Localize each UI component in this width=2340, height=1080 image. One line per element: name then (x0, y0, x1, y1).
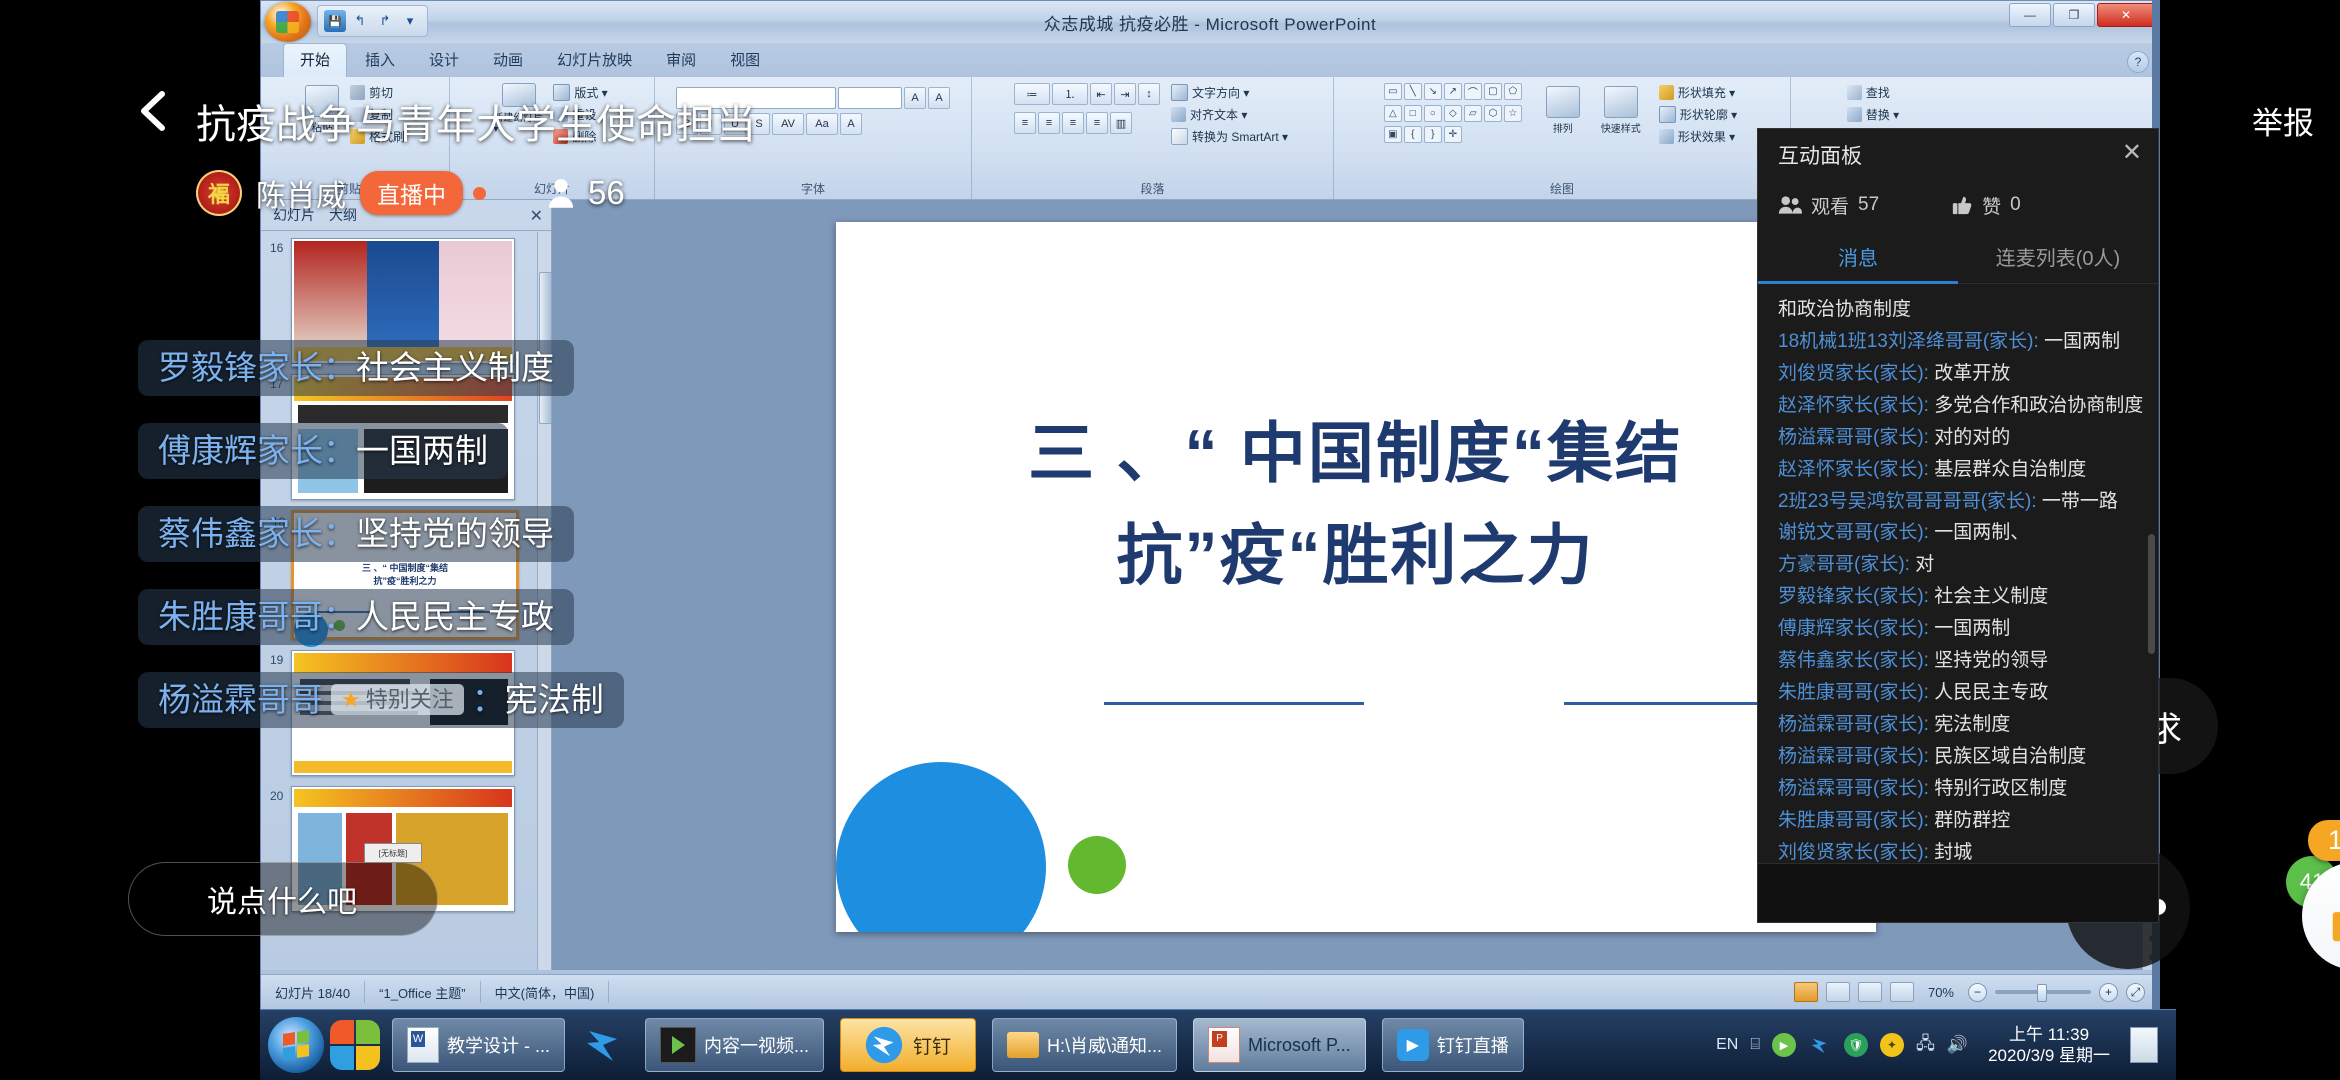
message-item: 杨溢霖哥哥(家长): 民族区域自治制度 (1778, 743, 2144, 771)
restore-icon[interactable]: ❐ (2053, 3, 2095, 27)
find-button[interactable]: 查找 (1844, 83, 1904, 102)
taskbar-item-label: 内容一视频... (704, 1032, 809, 1058)
zoom-level: 70% (1922, 985, 1960, 1000)
viewers-icon (1778, 195, 1802, 215)
thumbs-up-icon (2325, 885, 2340, 947)
group-label-drawing: 绘图 (1334, 180, 1790, 197)
special-follow-tag: ★ 特别关注 (331, 684, 464, 715)
stat-likes: 赞 0 (1951, 192, 2021, 219)
message-scrollbar[interactable] (2148, 534, 2155, 654)
message-item: 谢锐文哥哥(家长): 一国两制、 (1778, 519, 2144, 547)
text-direction-label: 文字方向 ▾ (1192, 84, 1249, 101)
clock-time: 上午 11:39 (1988, 1024, 2110, 1045)
panel-stats: 观看 57 赞 0 (1758, 181, 2158, 229)
taskbar: W 教学设计 - ... 内容一视频... 钉钉 H:\肖威\通知... (260, 1009, 2176, 1080)
view-normal-icon[interactable] (1794, 982, 1818, 1002)
danmaku-text: 人民民主专政 (356, 598, 554, 636)
like-count: 195 (2308, 820, 2340, 861)
ime-icon[interactable]: EN (1716, 1036, 1738, 1054)
tab-mic-list[interactable]: 连麦列表(0人) (1958, 229, 2158, 283)
danmaku-user: 杨溢霖哥哥 (158, 681, 323, 719)
danmaku-sep: ： (323, 349, 356, 387)
zoom-out-icon[interactable]: − (1968, 983, 1987, 1002)
message-text: 人民民主专政 (1934, 682, 2048, 703)
message-text: 多党合作和政治协商制度 (1934, 395, 2143, 416)
clock[interactable]: 上午 11:39 2020/3/9 星期一 (1980, 1024, 2118, 1067)
shape-line-icon[interactable]: ╲ (1404, 83, 1422, 100)
shape-effects-button[interactable]: 形状效果 ▾ (1656, 127, 1740, 146)
taskbar-item-label: Microsoft P... (1248, 1035, 1351, 1056)
screen: 💾 ↰ ↱ ▾ 众志成城 抗疫必胜 - Microsoft PowerPoint… (0, 0, 2340, 1080)
danmaku-user: 傅康辉家长 (158, 432, 323, 470)
message-user: 傅康辉家长(家长): (1778, 618, 1929, 639)
danmaku-sep: ： (323, 432, 356, 470)
message-text: 和政治协商制度 (1778, 299, 1911, 320)
slide-canvas[interactable]: 三 、“ 中国制度“集结 抗”疫“胜利之力 (836, 222, 1876, 932)
arrange-button[interactable]: 排列 (1540, 83, 1586, 135)
message-text: 民族区域自治制度 (1934, 746, 2086, 767)
message-item: 杨溢霖哥哥(家长): 宪法制度 (1778, 711, 2144, 739)
dingtalk-icon (865, 1026, 903, 1064)
message-user: 方豪哥哥(家长): (1778, 554, 1910, 575)
danmaku-sep: ： (472, 681, 505, 719)
thumbnail-number: 20 (270, 789, 283, 803)
view-slideshow-icon[interactable] (1890, 982, 1914, 1002)
viewer-count: 56 (588, 174, 625, 212)
search-icon (1847, 85, 1862, 100)
dingtalk-icon[interactable] (1808, 1033, 1832, 1057)
slide-title-line1: 三 、“ 中国制度“集结 (836, 402, 1876, 504)
replace-icon (1847, 107, 1862, 122)
message-text: 坚持党的领导 (1934, 650, 2048, 671)
powerpoint-icon: P (1208, 1027, 1240, 1063)
panel-input-area[interactable] (1758, 863, 2158, 922)
report-button[interactable]: 举报 (2252, 98, 2314, 143)
shape-effects-label: 形状效果 ▾ (1678, 128, 1735, 145)
message-text: 对的对的 (1934, 427, 2010, 448)
danmaku-text: 一国两制 (356, 432, 488, 470)
close-icon[interactable]: ✕ (2097, 3, 2155, 27)
theme-name: “1_Office 主题” (365, 981, 480, 1003)
text-direction-icon (1171, 84, 1188, 101)
word-icon: W (407, 1027, 439, 1063)
powerpoint-status-bar: 幻灯片 18/40 “1_Office 主题” 中文(简体，中国) 70% − … (261, 974, 2159, 1009)
view-sorter-icon[interactable] (1826, 982, 1850, 1002)
viewer-chip: 56 (546, 174, 625, 212)
message-item: 罗毅锋家长(家长): 社会主义制度 (1778, 583, 2144, 611)
change-case-button[interactable]: Aa (806, 113, 838, 135)
message-item: 刘俊贤家长(家长): 改革开放 (1778, 360, 2144, 388)
message-user: 刘俊贤家长(家长): (1778, 842, 1929, 863)
shape-triangle-icon[interactable]: △ (1384, 105, 1402, 122)
slide-decor-blue-circle (836, 762, 1046, 932)
message-user: 蔡伟鑫家长(家长): (1778, 650, 1929, 671)
message-text: 群防群控 (1934, 810, 2010, 831)
message-user: 18机械1班13刘泽绛哥哥(家长): (1778, 331, 2039, 352)
character-spacing-button[interactable]: AV (772, 113, 804, 135)
danmaku-item: 朱胜康哥哥 ： 人民民主专政 (138, 589, 574, 645)
increase-font-icon[interactable]: A (904, 87, 926, 109)
message-user: 赵泽怀家长(家长): (1778, 395, 1929, 416)
align-left-button[interactable]: ≡ (1014, 112, 1036, 134)
message-item: 朱胜康哥哥(家长): 群防群控 (1778, 807, 2144, 835)
shape-plus-icon[interactable]: ✛ (1444, 126, 1462, 143)
message-text: 基层群众自治制度 (1934, 459, 2086, 480)
taskbar-item-video[interactable]: 内容一视频... (645, 1018, 824, 1072)
shape-rect-icon[interactable]: ▭ (1384, 83, 1402, 100)
close-icon[interactable]: ✕ (2122, 141, 2142, 165)
message-user: 朱胜康哥哥(家长): (1778, 810, 1929, 831)
message-text: 改革开放 (1934, 363, 2010, 384)
minimize-icon[interactable]: — (2009, 3, 2051, 27)
window-controls: — ❐ ✕ (2009, 3, 2155, 27)
view-reading-icon[interactable] (1858, 982, 1882, 1002)
special-follow-label: 特别关注 (366, 687, 454, 712)
justify-button[interactable]: ≡ (1086, 112, 1108, 134)
danmaku-sep: ： (323, 598, 356, 636)
language-indicator[interactable]: 中文(简体，中国) (481, 981, 610, 1003)
taskbar-item-folder[interactable]: H:\肖威\通知... (992, 1018, 1177, 1072)
message-user: 刘俊贤家长(家长): (1778, 363, 1929, 384)
message-text: 宪法制度 (1934, 714, 2010, 735)
video-icon (660, 1027, 696, 1063)
person-icon (546, 177, 576, 209)
message-item: 杨溢霖哥哥(家长): 特别行政区制度 (1778, 775, 2144, 803)
slide-counter: 幻灯片 18/40 (261, 981, 365, 1003)
shape-brace-right-icon[interactable]: } (1424, 126, 1442, 143)
tab-animation[interactable]: 动画 (477, 44, 539, 77)
danmaku-list: 罗毅锋家长 ： 社会主义制度 傅康辉家长 ： 一国两制 蔡伟鑫家长 ： 坚持党的… (138, 340, 624, 728)
shape-pentagon-icon[interactable]: ⬠ (1504, 83, 1522, 100)
smartart-label: 转换为 SmartArt ▾ (1192, 128, 1288, 145)
shape-outline-label: 形状轮廓 ▾ (1680, 106, 1737, 123)
shape-outline-button[interactable]: 形状轮廓 ▾ (1656, 105, 1740, 124)
windows-orb-icon[interactable] (268, 1017, 324, 1073)
message-user: 杨溢霖哥哥(家长): (1778, 714, 1929, 735)
system-tray: EN ⌸ ▶ 🛡 ✦ 🖧 🔊 上午 11:39 2020/3/9 星期一 (1716, 1024, 2168, 1067)
message-item: 和政治协商制度 (1778, 296, 2144, 324)
columns-button[interactable]: ▥ (1110, 112, 1132, 134)
stat-viewers-label: 观看 (1811, 192, 1849, 219)
shape-curve-icon[interactable]: ⌒ (1464, 83, 1482, 100)
message-item: 蔡伟鑫家长(家长): 坚持党的领导 (1778, 647, 2144, 675)
panel-header: 互动面板 ✕ (1758, 129, 2158, 181)
slide-decor-green-circle (1068, 836, 1126, 894)
shape-hexagon-icon[interactable]: ⬡ (1484, 105, 1502, 122)
danmaku-text: 社会主义制度 (356, 349, 554, 387)
thumbs-up-icon (1951, 194, 1973, 216)
folder-icon (1007, 1032, 1039, 1058)
shape-roundrect-icon[interactable]: ▢ (1484, 83, 1502, 100)
browser-icon[interactable] (330, 1020, 380, 1070)
tab-slideshow[interactable]: 幻灯片放映 (541, 44, 648, 77)
zoom-slider[interactable] (1995, 990, 2091, 994)
status-bar-right: 70% − + ⤢ (1794, 982, 2159, 1002)
message-item: 赵泽怀家长(家长): 多党合作和政治协商制度 (1778, 392, 2144, 420)
shape-connector-icon[interactable]: ↗ (1444, 83, 1462, 100)
message-item: 18机械1班13刘泽绛哥哥(家长): 一国两制 (1778, 328, 2144, 356)
clock-date: 2020/3/9 星期一 (1988, 1045, 2110, 1066)
tray-expand-icon[interactable]: ⌸ (1750, 1036, 1760, 1054)
message-user: 2班23号吴鸿钦哥哥哥哥(家长): (1778, 491, 2037, 512)
ribbon-tabs: 开始 插入 设计 动画 幻灯片放映 审阅 视图 ? (261, 43, 2159, 77)
danmaku-text: 坚持党的领导 (356, 515, 554, 553)
danmaku-item: 罗毅锋家长 ： 社会主义制度 (138, 340, 574, 396)
dingtalk-live-icon: ▶ (1397, 1029, 1429, 1061)
align-right-button[interactable]: ≡ (1062, 112, 1084, 134)
quick-styles-icon (1604, 86, 1638, 118)
shape-arrow-icon[interactable]: ↘ (1424, 83, 1442, 100)
align-row: ≡ ≡ ≡ ≡ ▥ (1014, 112, 1160, 134)
arrange-icon (1546, 86, 1580, 118)
volume-icon[interactable]: 🔊 (1947, 1035, 1968, 1055)
dingtalk-icon (583, 1023, 627, 1067)
arrange-label: 排列 (1553, 120, 1573, 135)
shape-diamond-icon[interactable]: ◇ (1444, 105, 1462, 122)
danmaku-user: 蔡伟鑫家长 (158, 515, 323, 553)
taskbar-item-dingtalk-small[interactable] (581, 1021, 629, 1069)
message-item: 2班23号吴鸿钦哥哥哥哥(家长): 一带一路 (1778, 488, 2144, 516)
ribbon-group-paragraph: ≔ ⒈ ⇤ ⇥ ↕ ≡ ≡ ≡ ≡ ▥ (972, 77, 1334, 199)
presenter-row: 福 陈肖威 直播中 56 (196, 170, 625, 216)
shapes-gallery[interactable]: ▭ ╲ ↘ ↗ ⌒ ▢ ⬠ △ □ ○ ◇ ▱ ⬡ ☆ ▣ (1384, 83, 1534, 146)
message-item: 朱胜康哥哥(家长): 人民民主专政 (1778, 679, 2144, 707)
panel-title: 互动面板 (1778, 140, 1862, 170)
font-color-button[interactable]: A (840, 113, 862, 135)
fit-slide-icon[interactable]: ⤢ (2126, 983, 2145, 1002)
tab-view[interactable]: 视图 (714, 44, 776, 77)
align-text-label: 对齐文本 ▾ (1190, 106, 1247, 123)
message-user: 朱胜康哥哥(家长): (1778, 682, 1929, 703)
quick-styles-button[interactable]: 快速样式 (1592, 83, 1650, 135)
danmaku-text: 宪法制 (505, 681, 604, 719)
window-title: 众志成城 抗疫必胜 - Microsoft PowerPoint (261, 10, 2159, 35)
comment-input[interactable]: 说点什么吧 (128, 862, 438, 936)
thumbnail-number: 16 (270, 241, 283, 255)
text-direction-button[interactable]: 文字方向 ▾ (1168, 83, 1291, 102)
shape-square-icon[interactable]: □ (1404, 105, 1422, 122)
find-label: 查找 (1866, 84, 1890, 101)
quick-styles-label: 快速样式 (1601, 120, 1641, 135)
group-label-paragraph: 段落 (972, 180, 1333, 197)
message-text: 对 (1915, 554, 1934, 575)
back-button[interactable] (138, 90, 170, 122)
notes-icon[interactable] (2130, 1027, 2158, 1063)
powerpoint-titlebar: 💾 ↰ ↱ ▾ 众志成城 抗疫必胜 - Microsoft PowerPoint… (261, 1, 2159, 43)
taskbar-item-dingtalk-live[interactable]: ▶ 钉钉直播 (1382, 1018, 1524, 1072)
bullets-button[interactable]: ≔ (1014, 83, 1050, 105)
star-icon: ★ (341, 687, 361, 712)
numbering-button[interactable]: ⒈ (1052, 83, 1088, 105)
shape-star-icon[interactable]: ☆ (1504, 105, 1522, 122)
tab-review[interactable]: 审阅 (650, 44, 712, 77)
live-title: 抗疫战争与青年大学生使命担当 (196, 92, 756, 150)
message-text: 一带一路 (2042, 491, 2118, 512)
tab-insert[interactable]: 插入 (349, 44, 411, 77)
panel-tabs: 消息 连麦列表(0人) (1758, 229, 2158, 284)
ribbon-group-drawing: ▭ ╲ ↘ ↗ ⌒ ▢ ⬠ △ □ ○ ◇ ▱ ⬡ ☆ ▣ (1334, 77, 1791, 199)
decrease-indent-button[interactable]: ⇤ (1090, 83, 1112, 105)
increase-indent-button[interactable]: ⇥ (1114, 83, 1136, 105)
group-label-font: 字体 (655, 180, 971, 197)
font-size-input[interactable] (838, 87, 902, 109)
shape-outline-icon (1659, 106, 1676, 123)
shape-brace-icon[interactable]: { (1404, 126, 1422, 143)
danmaku-item: 杨溢霖哥哥 ★ 特别关注 ： 宪法制 (138, 672, 624, 728)
decrease-font-icon[interactable]: A (928, 87, 950, 109)
monitor-icon[interactable]: 🖧 (1916, 1031, 1935, 1060)
tab-home[interactable]: 开始 (283, 43, 347, 77)
danmaku-sep: ： (323, 515, 356, 553)
align-text-button[interactable]: 对齐文本 ▾ (1168, 105, 1291, 124)
smartart-icon (1171, 128, 1188, 145)
stat-viewers: 观看 57 (1778, 192, 1879, 219)
taskbar-item-powerpoint[interactable]: P Microsoft P... (1193, 1018, 1366, 1072)
taskbar-item-word[interactable]: W 教学设计 - ... (392, 1018, 565, 1072)
message-text: 社会主义制度 (1934, 586, 2048, 607)
danmaku-item: 傅康辉家长 ： 一国两制 (138, 423, 508, 479)
message-text: 一国两制 (1934, 618, 2010, 639)
message-text: 一国两制、 (1934, 522, 2029, 543)
message-item: 杨溢霖哥哥(家长): 对的对的 (1778, 424, 2144, 452)
message-list[interactable]: 和政治协商制度 18机械1班13刘泽绛哥哥(家长): 一国两制 刘俊贤家长(家长… (1758, 284, 2158, 863)
slide-rule-left (1104, 702, 1364, 705)
stat-likes-label: 赞 (1982, 192, 2001, 219)
message-item: 刘俊贤家长(家长): 封城 (1778, 839, 2144, 863)
stat-likes-value: 0 (2010, 194, 2021, 216)
slide-title[interactable]: 三 、“ 中国制度“集结 抗”疫“胜利之力 (836, 402, 1876, 607)
live-dot-icon (473, 187, 486, 200)
taskbar-item-dingtalk[interactable]: 钉钉 (840, 1018, 976, 1072)
taskbar-item-label: 钉钉 (913, 1032, 951, 1059)
help-icon[interactable]: ? (2127, 51, 2149, 73)
message-text: 特别行政区制度 (1934, 778, 2067, 799)
interaction-panel: 互动面板 ✕ 观看 57 赞 0 (1757, 128, 2159, 923)
message-user: 杨溢霖哥哥(家长): (1778, 746, 1929, 767)
line-spacing-button[interactable]: ↕ (1138, 83, 1160, 105)
message-user: 杨溢霖哥哥(家长): (1778, 778, 1929, 799)
align-center-button[interactable]: ≡ (1038, 112, 1060, 134)
slide-title-line2: 抗”疫“胜利之力 (836, 504, 1876, 606)
message-user: 谢锐文哥哥(家长): (1778, 522, 1929, 543)
taskbar-item-label: 教学设计 - ... (447, 1032, 550, 1058)
danmaku-item: 蔡伟鑫家长 ： 坚持党的领导 (138, 506, 574, 562)
message-item: 傅康辉家长(家长): 一国两制 (1778, 615, 2144, 643)
zoom-slider-handle[interactable] (2037, 984, 2047, 1002)
message-text: 封城 (1934, 842, 1972, 863)
shape-effects-icon (1659, 129, 1674, 144)
safe-icon[interactable]: ✦ (1880, 1033, 1904, 1057)
danmaku-user: 朱胜康哥哥 (158, 598, 323, 636)
avatar-glyph: 福 (196, 170, 242, 216)
message-user: 赵泽怀家长(家长): (1778, 459, 1929, 480)
shape-fill-label: 形状填充 ▾ (1678, 84, 1735, 101)
zoom-in-icon[interactable]: + (2099, 983, 2118, 1002)
message-user: 罗毅锋家长(家长): (1778, 586, 1929, 607)
stat-viewers-value: 57 (1858, 194, 1879, 216)
tab-design[interactable]: 设计 (413, 44, 475, 77)
shape-circle-icon[interactable]: ○ (1424, 105, 1442, 122)
shape-callout-icon[interactable]: ▣ (1384, 126, 1402, 143)
tab-messages[interactable]: 消息 (1758, 229, 1958, 283)
replace-label: 替换 ▾ (1866, 106, 1899, 123)
replace-button[interactable]: 替换 ▾ (1844, 105, 1904, 124)
message-text: 一国两制 (2044, 331, 2120, 352)
message-item: 方豪哥哥(家长): 对 (1778, 551, 2144, 579)
shape-fill-icon (1659, 85, 1674, 100)
convert-smartart-button[interactable]: 转换为 SmartArt ▾ (1168, 127, 1291, 146)
status-badge: 直播中 (360, 171, 463, 215)
shape-parallelogram-icon[interactable]: ▱ (1464, 105, 1482, 122)
message-user: 杨溢霖哥哥(家长): (1778, 427, 1929, 448)
message-item: 赵泽怀家长(家长): 基层群众自治制度 (1778, 456, 2144, 484)
shield-icon[interactable]: 🛡 (1844, 1033, 1868, 1057)
list-row: ≔ ⒈ ⇤ ⇥ ↕ (1014, 83, 1160, 105)
shape-fill-button[interactable]: 形状填充 ▾ (1656, 83, 1740, 102)
media-icon[interactable]: ▶ (1772, 1033, 1796, 1057)
taskbar-item-label: 钉钉直播 (1437, 1032, 1509, 1058)
danmaku-user: 罗毅锋家长 (158, 349, 323, 387)
presenter-name: 陈肖威 (256, 171, 346, 215)
taskbar-item-label: H:\肖威\通知... (1047, 1032, 1162, 1058)
align-text-icon (1171, 107, 1186, 122)
avatar[interactable]: 福 (196, 170, 242, 216)
